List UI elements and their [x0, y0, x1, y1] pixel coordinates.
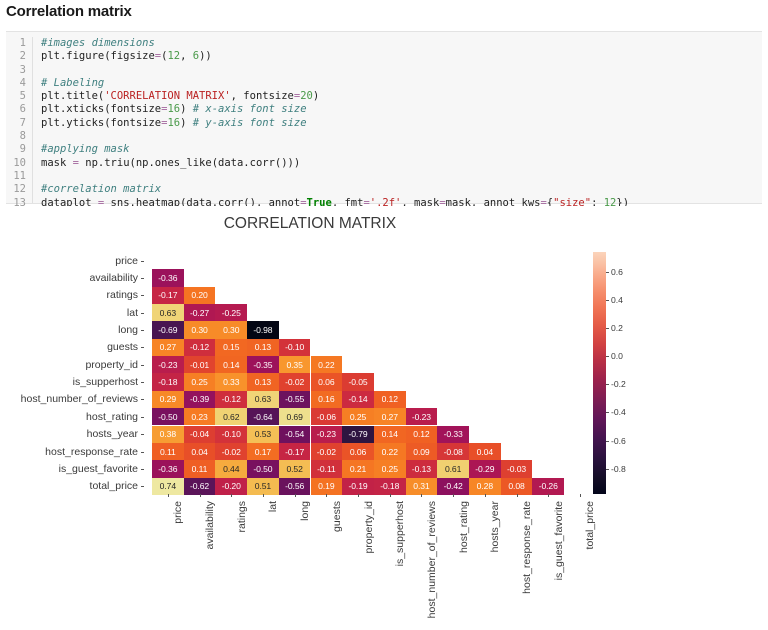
heatmap-cell: -0.50 — [247, 460, 279, 477]
y-axis-tick-label: availability — [90, 270, 138, 287]
heatmap-cell: 0.52 — [279, 460, 311, 477]
code-line-number: 10 — [6, 157, 26, 170]
heatmap-cell: 0.25 — [374, 460, 406, 477]
x-axis-tick-label: host_number_of_reviews — [426, 501, 438, 618]
x-axis-tick — [453, 494, 454, 497]
heatmap-cell: -0.01 — [184, 356, 216, 373]
code-token: #applying mask — [41, 143, 130, 155]
y-axis-tick — [141, 469, 144, 470]
heatmap-cell: -0.79 — [342, 426, 374, 443]
y-axis-tick-label: is_guest_favorite — [59, 461, 138, 478]
heatmap-cell: -0.26 — [532, 478, 564, 495]
x-axis-tick-label: price — [172, 501, 184, 524]
x-axis-tick — [231, 494, 232, 497]
heatmap-cell: -0.02 — [215, 443, 247, 460]
code-token: ) — [313, 90, 319, 102]
heatmap-cell: 0.11 — [184, 460, 216, 477]
heatmap-cell: -0.42 — [437, 478, 469, 495]
x-axis-tick-label: is_guest_favorite — [553, 501, 565, 580]
heatmap-cell: -0.36 — [152, 460, 184, 477]
heatmap-cell: 0.69 — [279, 408, 311, 425]
x-axis-tick — [485, 494, 486, 497]
colorbar-tick-label: -0.2 — [611, 379, 626, 389]
colorbar-tick — [606, 469, 609, 470]
heatmap-cell: -0.33 — [437, 426, 469, 443]
heatmap-cell: 0.12 — [374, 391, 406, 408]
heatmap-cell: 0.53 — [247, 426, 279, 443]
y-axis-tick — [141, 347, 144, 348]
y-axis-tick-label: host_rating — [86, 409, 138, 426]
heatmap-cell: 0.29 — [152, 391, 184, 408]
heatmap-cell: 0.27 — [374, 408, 406, 425]
code-token: #images dimensions — [41, 37, 155, 49]
code-line — [41, 130, 762, 143]
code-token: ) — [180, 103, 193, 115]
code-token: # Labeling — [41, 77, 104, 89]
heatmap-cell: -0.19 — [342, 478, 374, 495]
code-line: #applying mask — [41, 143, 762, 156]
code-token: 16 — [167, 117, 180, 129]
heatmap-cell: 0.13 — [247, 339, 279, 356]
code-block[interactable]: 12345678910111213 #images dimensionsplt.… — [6, 31, 762, 204]
y-axis-tick-label: total_price — [90, 478, 138, 495]
code-line-number: 12 — [6, 183, 26, 196]
code-line: # Labeling — [41, 77, 762, 90]
code-line-number: 6 — [6, 103, 26, 116]
heatmap-cell: -0.05 — [342, 373, 374, 390]
heatmap-cell: 0.04 — [184, 443, 216, 460]
heatmap-cell: -0.23 — [406, 408, 438, 425]
heatmap-cell: 0.74 — [152, 478, 184, 495]
x-axis-tick-label: ratings — [236, 501, 248, 533]
code-token: , — [180, 50, 193, 62]
heatmap-cell: -0.23 — [311, 426, 343, 443]
colorbar-tick — [606, 328, 609, 329]
y-axis-tick — [141, 261, 144, 262]
x-axis-tick-label: hosts_year — [489, 501, 501, 552]
heatmap-cell: 0.63 — [152, 304, 184, 321]
heatmap-cell: 0.20 — [184, 287, 216, 304]
code-line-number: 11 — [6, 170, 26, 183]
heatmap-cell: -0.06 — [311, 408, 343, 425]
heatmap-cell: 0.14 — [374, 426, 406, 443]
code-line-number: 2 — [6, 50, 26, 63]
code-token: np.triu(np.ones_like(data.corr())) — [79, 157, 300, 169]
heatmap-cell: 0.22 — [311, 356, 343, 373]
y-axis-tick-label: hosts_year — [87, 426, 138, 443]
y-axis-tick — [141, 399, 144, 400]
x-axis-tick — [421, 494, 422, 497]
heatmap-cell: 0.17 — [247, 443, 279, 460]
heatmap-cell: -0.50 — [152, 408, 184, 425]
code-token: #correlation matrix — [41, 183, 161, 195]
heatmap-cell: -0.54 — [279, 426, 311, 443]
x-axis-tick-label: lat — [267, 501, 279, 512]
colorbar-tick-label: -0.4 — [611, 407, 626, 417]
code-token: 12 — [167, 50, 180, 62]
y-axis-tick-label: host_response_rate — [45, 444, 138, 461]
heatmap-cell: 0.14 — [215, 356, 247, 373]
y-axis-tick-label: price — [115, 253, 138, 270]
heatmap-cell: 0.38 — [152, 426, 184, 443]
heatmap-cell: -0.62 — [184, 478, 216, 495]
heatmap-cell: 0.22 — [374, 443, 406, 460]
code-line-numbers: 12345678910111213 — [6, 37, 33, 203]
heatmap-cell: -0.02 — [311, 443, 343, 460]
colorbar-tick — [606, 412, 609, 413]
heatmap-cell: 0.44 — [215, 460, 247, 477]
y-axis-tick-label: is_supperhost — [73, 374, 138, 391]
chart-title: CORRELATION MATRIX — [0, 215, 620, 233]
code-line-number: 3 — [6, 64, 26, 77]
heatmap-cell: 0.04 — [469, 443, 501, 460]
code-token: plt.xticks(fontsize — [41, 103, 161, 115]
code-line-number: 1 — [6, 37, 26, 50]
heatmap-cell: -0.14 — [342, 391, 374, 408]
colorbar-tick — [606, 384, 609, 385]
colorbar-tick-label: 0.0 — [611, 351, 623, 361]
x-axis-tick — [295, 494, 296, 497]
heatmap-cell: -0.11 — [311, 460, 343, 477]
heatmap-cell: 0.15 — [215, 339, 247, 356]
heatmap-cell: 0.31 — [406, 478, 438, 495]
code-token: plt.yticks(fontsize — [41, 117, 161, 129]
y-axis-tick — [141, 452, 144, 453]
heatmap-cell: 0.30 — [215, 321, 247, 338]
y-axis-tick — [141, 382, 144, 383]
y-axis-tick-label: guests — [107, 339, 138, 356]
heatmap-cell: -0.18 — [152, 373, 184, 390]
colorbar-tick-label: 0.2 — [611, 323, 623, 333]
x-axis-tick — [548, 494, 549, 497]
heatmap-cell: 0.21 — [342, 460, 374, 477]
heatmap-cell: 0.11 — [152, 443, 184, 460]
heatmap-cell: 0.27 — [152, 339, 184, 356]
heatmap-cell: 0.16 — [311, 391, 343, 408]
heatmap-cell: 0.30 — [184, 321, 216, 338]
heatmap-cell: 0.28 — [469, 478, 501, 495]
y-axis-tick — [141, 330, 144, 331]
heatmap-cell: -0.23 — [152, 356, 184, 373]
x-axis-tick — [580, 494, 581, 497]
heatmap-cell: -0.10 — [279, 339, 311, 356]
code-line: plt.yticks(fontsize=16) # y-axis font si… — [41, 117, 762, 130]
heatmap-cell: -0.55 — [279, 391, 311, 408]
heatmap-cell: 0.62 — [215, 408, 247, 425]
y-axis-tick-label: long — [118, 322, 138, 339]
code-line — [41, 64, 762, 77]
code-line: plt.xticks(fontsize=16) # x-axis font si… — [41, 103, 762, 116]
heatmap-cell: -0.39 — [184, 391, 216, 408]
x-axis-tick — [200, 494, 201, 497]
heatmap-cell: -0.18 — [374, 478, 406, 495]
code-line-number: 7 — [6, 117, 26, 130]
heatmap-cell: -0.25 — [215, 304, 247, 321]
x-axis-tick — [326, 494, 327, 497]
colorbar-tick-label: 0.4 — [611, 295, 623, 305]
heatmap-cell: 0.06 — [342, 443, 374, 460]
code-token: ) — [180, 117, 193, 129]
code-line-number: 9 — [6, 143, 26, 156]
x-axis-tick-label: availability — [204, 501, 216, 549]
heatmap-cell: 0.19 — [311, 478, 343, 495]
code-token: , fontsize — [231, 90, 294, 102]
heatmap-cell: -0.03 — [501, 460, 533, 477]
code-line — [41, 170, 762, 183]
code-line-number: 5 — [6, 90, 26, 103]
y-axis-tick-label: ratings — [106, 287, 138, 304]
y-axis-tick-label: property_id — [85, 357, 138, 374]
x-axis-tick-label: host_rating — [458, 501, 470, 553]
x-axis-tick-label: host_response_rate — [521, 501, 533, 594]
code-line-number: 8 — [6, 130, 26, 143]
heatmap-cell: 0.25 — [184, 373, 216, 390]
code-line: mask = np.triu(np.ones_like(data.corr())… — [41, 157, 762, 170]
code-token: 20 — [300, 90, 313, 102]
colorbar-tick — [606, 300, 609, 301]
code-line: #images dimensions — [41, 37, 762, 50]
heatmap-cell: -0.56 — [279, 478, 311, 495]
code-line: plt.title('CORRELATION MATRIX', fontsize… — [41, 90, 762, 103]
x-axis-tick-label: property_id — [363, 501, 375, 554]
x-axis-tick-label: total_price — [584, 501, 596, 549]
heatmap-cell: -0.04 — [184, 426, 216, 443]
colorbar-tick-label: -0.8 — [611, 464, 626, 474]
y-axis-tick-label: lat — [127, 305, 138, 322]
heatmap-cell: -0.13 — [406, 460, 438, 477]
y-axis-tick — [141, 278, 144, 279]
heatmap-cell: 0.35 — [279, 356, 311, 373]
heatmap-cell: -0.69 — [152, 321, 184, 338]
code-token: 16 — [167, 103, 180, 115]
heatmap-cell: -0.17 — [279, 443, 311, 460]
heatmap-cell: -0.10 — [215, 426, 247, 443]
code-token: # x-axis font size — [193, 103, 307, 115]
heatmap-cell: 0.13 — [247, 373, 279, 390]
heatmap-cell: -0.02 — [279, 373, 311, 390]
x-axis-tick-label: guests — [331, 501, 343, 532]
code-token: )) — [199, 50, 212, 62]
y-axis-tick — [141, 295, 144, 296]
heatmap-cell: -0.17 — [152, 287, 184, 304]
heatmap-cell: -0.35 — [247, 356, 279, 373]
y-axis-tick — [141, 417, 144, 418]
colorbar-gradient — [593, 252, 606, 494]
x-axis-tick-label: long — [299, 501, 311, 521]
heatmap-cell: 0.23 — [184, 408, 216, 425]
heatmap-cell: 0.63 — [247, 391, 279, 408]
code-line: plt.figure(figsize=(12, 6)) — [41, 50, 762, 63]
code-line: #correlation matrix — [41, 183, 762, 196]
y-axis-tick-label: host_number_of_reviews — [21, 391, 138, 408]
colorbar-tick — [606, 441, 609, 442]
heatmap-cell: 0.33 — [215, 373, 247, 390]
x-axis-tick — [390, 494, 391, 497]
code-token: mask — [41, 157, 73, 169]
colorbar-tick-label: 0.6 — [611, 267, 623, 277]
heatmap-cell: 0.25 — [342, 408, 374, 425]
heatmap-cell: -0.12 — [215, 391, 247, 408]
y-axis-tick — [141, 313, 144, 314]
heatmap-cell: -0.29 — [469, 460, 501, 477]
heatmap-cell: -0.20 — [215, 478, 247, 495]
x-axis-tick — [517, 494, 518, 497]
code-token: 'CORRELATION MATRIX' — [104, 90, 230, 102]
colorbar-tick — [606, 356, 609, 357]
code-line-number: 4 — [6, 77, 26, 90]
x-axis-tick — [168, 494, 169, 497]
heatmap-cell: 0.06 — [311, 373, 343, 390]
heatmap-cell: -0.98 — [247, 321, 279, 338]
page-title: Correlation matrix — [6, 3, 768, 20]
heatmap-cell: 0.61 — [437, 460, 469, 477]
x-axis-tick — [358, 494, 359, 497]
heatmap-cell: -0.08 — [437, 443, 469, 460]
heatmap-cell: -0.36 — [152, 269, 184, 286]
y-axis-tick — [141, 486, 144, 487]
heatmap-cell: -0.12 — [184, 339, 216, 356]
code-token: plt.title( — [41, 90, 104, 102]
heatmap-cell: 0.51 — [247, 478, 279, 495]
y-axis-tick — [141, 434, 144, 435]
heatmap-cell: 0.08 — [501, 478, 533, 495]
heatmap-cell: 0.09 — [406, 443, 438, 460]
colorbar-tick-label: -0.6 — [611, 436, 626, 446]
y-axis-tick — [141, 365, 144, 366]
colorbar-tick — [606, 272, 609, 273]
x-axis-tick — [263, 494, 264, 497]
heatmap-cell: 0.12 — [406, 426, 438, 443]
code-token: # y-axis font size — [193, 117, 307, 129]
code-content[interactable]: #images dimensionsplt.figure(figsize=(12… — [33, 37, 762, 203]
heatmap-cell: -0.64 — [247, 408, 279, 425]
correlation-heatmap-figure: CORRELATION MATRIX priceavailabilityrati… — [0, 206, 768, 630]
heatmap-cell: -0.27 — [184, 304, 216, 321]
x-axis-tick-label: is_supperhost — [394, 501, 406, 566]
code-token: plt.figure(figsize — [41, 50, 155, 62]
